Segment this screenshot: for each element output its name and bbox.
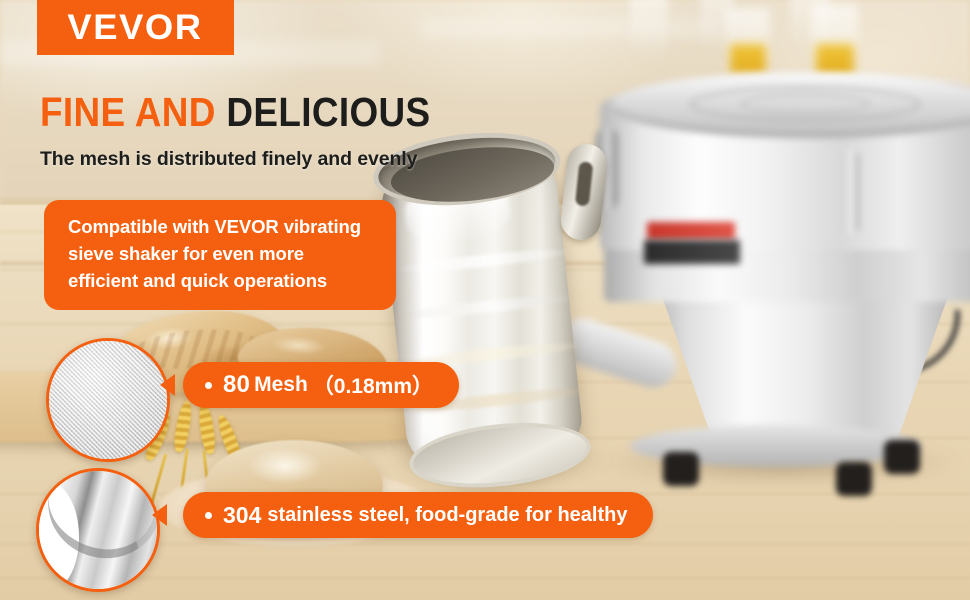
shaker-lid-ring-inner — [740, 93, 870, 115]
product-marketing-banner: VEVOR FINE AND DELICIOUS The mesh is dis… — [0, 0, 970, 600]
steel-closeup-circle — [36, 468, 160, 592]
page-subtitle: The mesh is distributed finely and evenl… — [40, 148, 417, 171]
stainless-steel-sieve-ring — [370, 122, 618, 502]
feature-badge-material: 304 stainless steel, food-grade for heal… — [183, 492, 653, 538]
headline-orange: FINE AND — [40, 89, 216, 135]
wine-glass — [630, 0, 668, 60]
rubber-foot — [836, 462, 872, 496]
mesh-closeup-circle — [46, 338, 170, 462]
mesh-shading — [49, 341, 167, 459]
wall-highlight — [420, 18, 720, 38]
material-description: stainless steel, food-grade for healthy — [267, 504, 627, 527]
headline-dark: DELICIOUS — [216, 89, 431, 135]
vevor-logo: VEVOR — [37, 0, 234, 55]
description-callout-box: Compatible with VEVOR vibrating sieve sh… — [44, 200, 396, 310]
vevor-logo-text: VEVOR — [68, 8, 203, 48]
callout-arrow-icon — [160, 374, 175, 396]
mesh-value: 80 — [223, 371, 250, 399]
shaker-control-panel — [644, 240, 740, 264]
mesh-detail: （0.18mm） — [313, 370, 433, 400]
material-grade: 304 — [223, 502, 261, 529]
page-title: FINE AND DELICIOUS — [40, 92, 431, 133]
description-text: Compatible with VEVOR vibrating sieve sh… — [68, 214, 376, 294]
bullet-icon — [205, 382, 212, 389]
callout-arrow-icon — [152, 504, 167, 526]
shaker-handle — [845, 150, 859, 234]
oil-bottle-fill — [730, 44, 766, 74]
rubber-foot — [884, 440, 920, 474]
feature-badge-mesh-size: 80 Mesh （0.18mm） — [183, 362, 459, 408]
rubber-foot — [663, 452, 699, 486]
bullet-icon — [205, 512, 212, 519]
shaker-brand-label — [647, 222, 735, 240]
mesh-unit: Mesh — [254, 373, 308, 397]
